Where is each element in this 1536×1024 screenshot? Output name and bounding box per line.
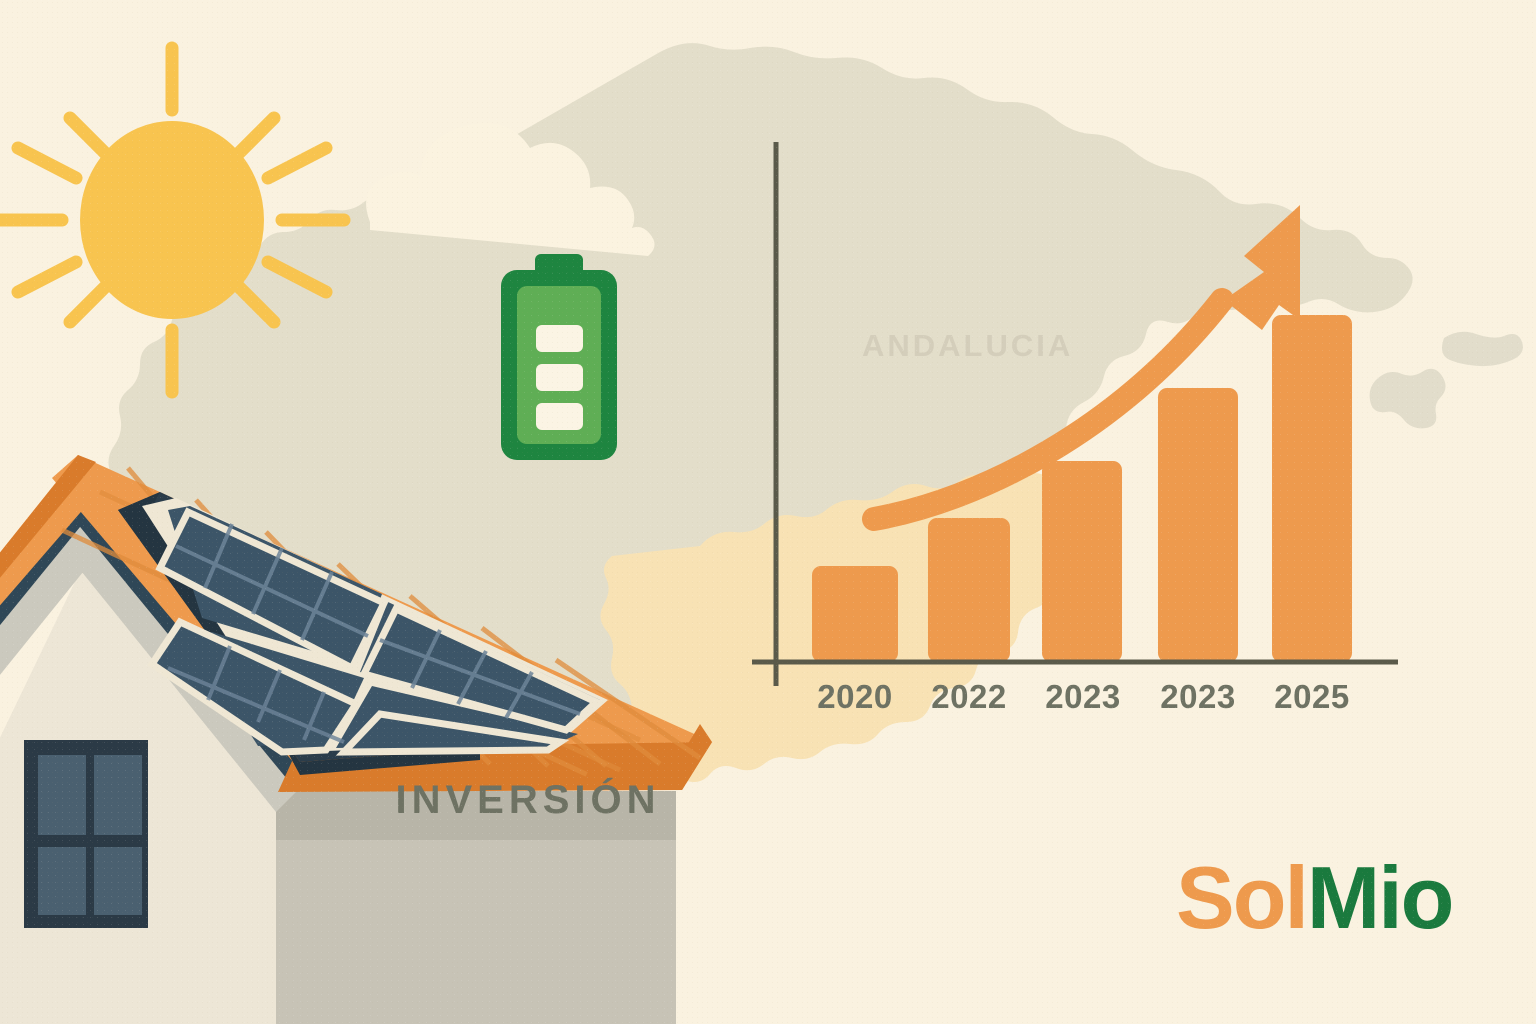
bar-2023-b[interactable] <box>1158 388 1238 662</box>
x-tick-label-2: 2023 <box>1023 678 1143 716</box>
illustration-canvas: ANDALUCIA <box>0 0 1536 1024</box>
x-tick-label-0: 2020 <box>795 678 915 716</box>
bar-2025[interactable] <box>1272 315 1352 662</box>
growth-arrow-head <box>1224 205 1300 330</box>
x-tick-label-4: 2025 <box>1252 678 1372 716</box>
bar-2020[interactable] <box>812 566 898 662</box>
logo-text-mio: Mio <box>1307 848 1453 947</box>
brand-logo: SolMio <box>1176 854 1452 942</box>
bar-2023-a[interactable] <box>1042 461 1122 662</box>
chart-bars <box>812 315 1352 662</box>
x-tick-label-3: 2023 <box>1138 678 1258 716</box>
bar-2022[interactable] <box>928 518 1010 662</box>
chart-caption: INVERSIÓN <box>0 778 1296 823</box>
x-tick-label-1: 2022 <box>909 678 1029 716</box>
logo-text-sol: Sol <box>1176 848 1307 947</box>
